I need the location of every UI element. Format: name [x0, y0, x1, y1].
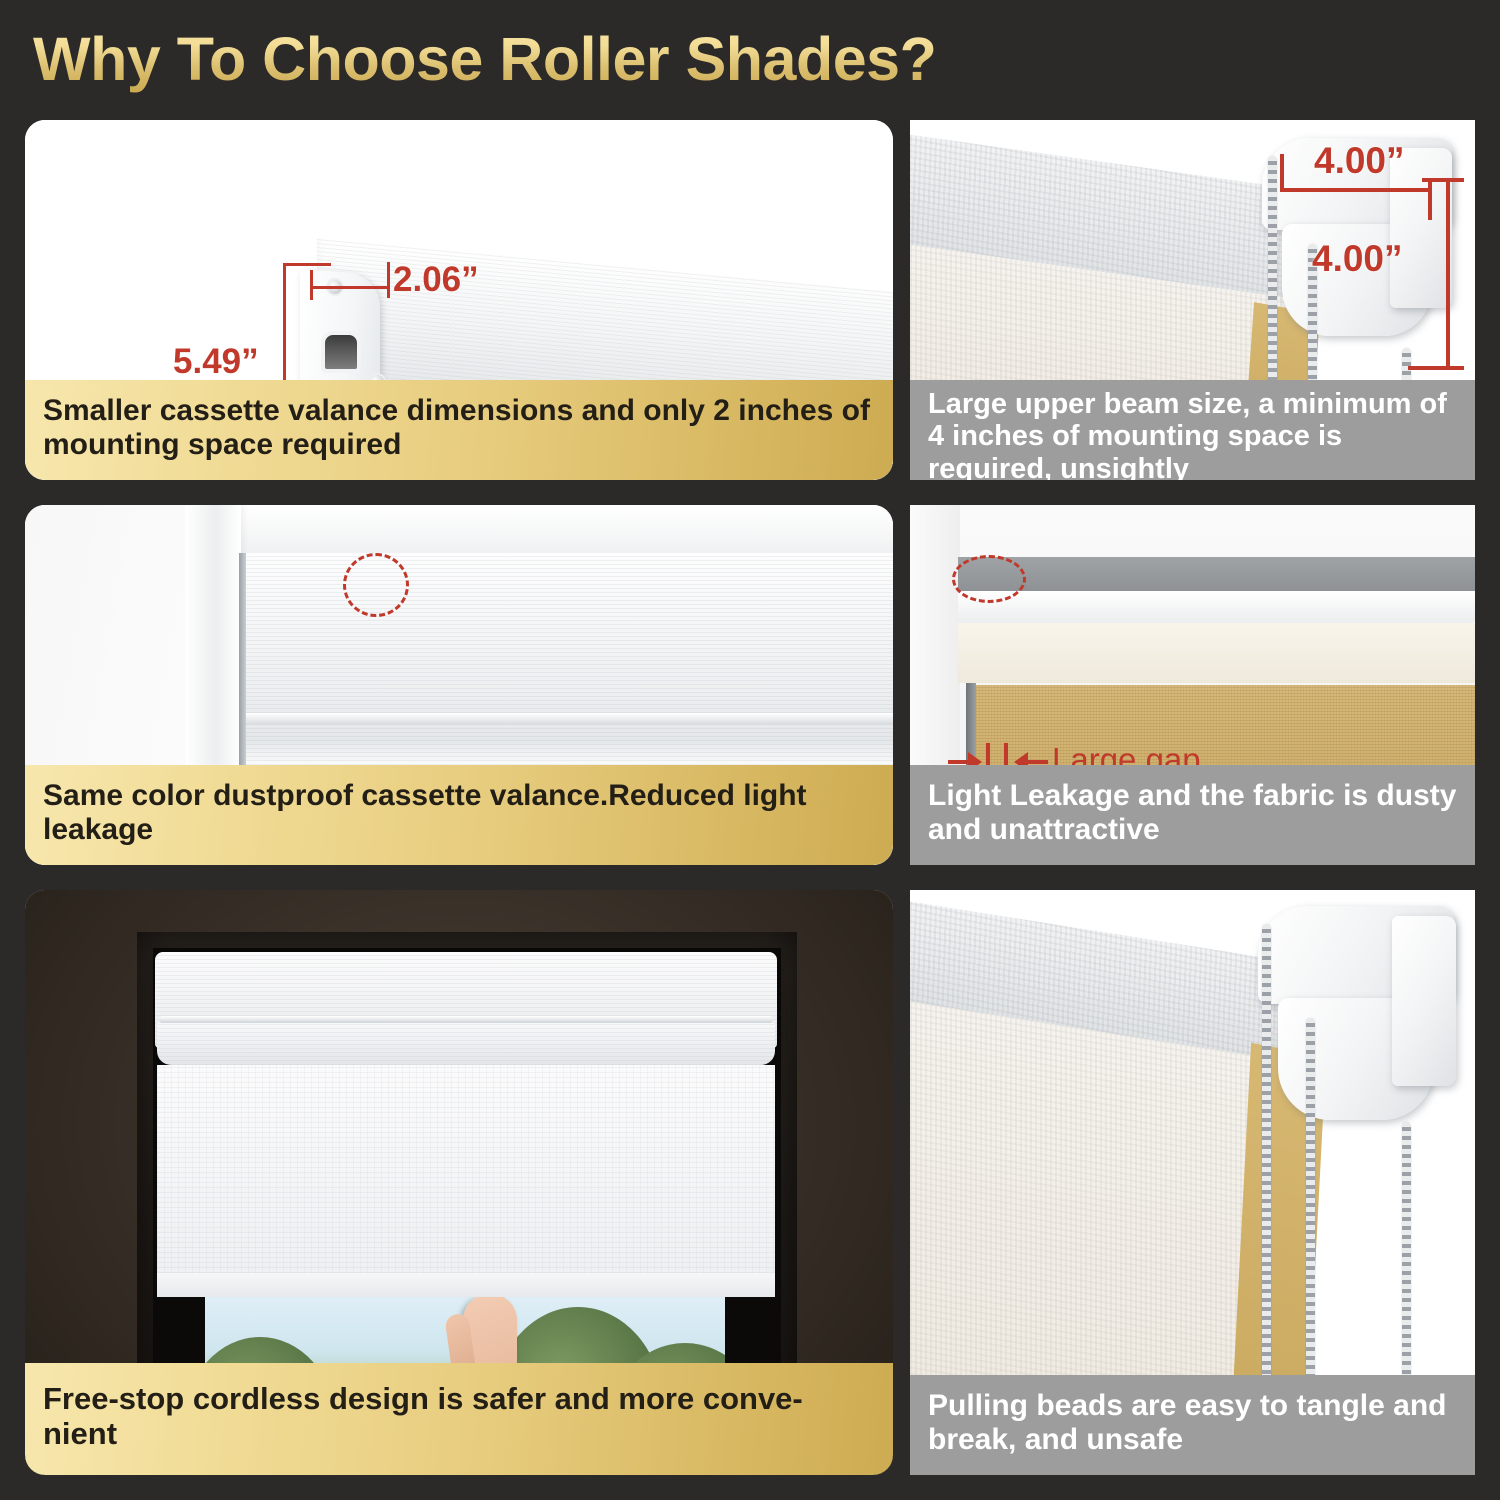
panel-cassette-valance: 2.06” 5.49” Smaller cassette valance dim… — [25, 120, 893, 480]
upper-beam-dark — [958, 557, 1475, 591]
page-title: Why To Choose Roller Shades? — [33, 24, 936, 94]
caption-bar-dustproof-cassette: Same color dustproof cassette valance.Re… — [25, 765, 893, 865]
valance-seam-line — [159, 1016, 773, 1023]
caption-text: Smaller cassette valance dimensions and … — [43, 394, 875, 461]
beam-height-dim-line — [1446, 178, 1450, 370]
caption-text: Free-stop cordless design is safer and m… — [43, 1382, 875, 1451]
caption-bar-pulling-beads: Pulling beads are easy to tangle and bre… — [910, 1375, 1475, 1475]
valance-lip — [157, 1023, 775, 1065]
height-dimension-label: 5.49” — [173, 342, 259, 382]
caption-text: Light Leakage and the fabric is dusty an… — [928, 779, 1457, 846]
panel-large-upper-beam: 4.00” 4.00” Large upper beam size, a min… — [910, 120, 1475, 480]
caption-text: Large upper beam size, a minimum of 4 in… — [928, 388, 1457, 480]
caption-bar-large-upper-beam: Large upper beam size, a minimum of 4 in… — [910, 380, 1475, 480]
shade-fabric — [157, 1065, 775, 1273]
panel-dustproof-cassette: smaller gap Same color dustproof cassett… — [25, 505, 893, 865]
caption-bar-free-stop-cordless: Free-stop cordless design is safer and m… — [25, 1363, 893, 1475]
beam-height-label: 4.00” — [1312, 238, 1403, 280]
caption-text: Same color dustproof cassette valance.Re… — [43, 779, 875, 846]
width-dim-tick-left — [310, 270, 313, 300]
width-dimension-label: 2.06” — [393, 260, 479, 300]
beam-height-tick-bottom — [1408, 366, 1464, 370]
upper-beam-light — [958, 591, 1475, 627]
beam-height-tick-top — [1422, 178, 1464, 182]
height-dim-tick-top — [283, 263, 331, 266]
caption-text: Pulling beads are easy to tangle and bre… — [928, 1389, 1457, 1456]
beam-width-dim-line — [1282, 188, 1430, 192]
beam-width-tick-right — [1428, 178, 1432, 220]
panel-pulling-beads: Pulling beads are easy to tangle and bre… — [910, 890, 1475, 1475]
valance-slot — [325, 335, 357, 369]
beam-width-label: 4.00” — [1314, 140, 1405, 182]
roller-bracket-plate — [1392, 916, 1456, 1086]
shade-bottom-bar — [157, 1273, 775, 1297]
panel-free-stop-cordless: Free-stop cordless design is safer and m… — [25, 890, 893, 1475]
width-dim-tick-right — [387, 262, 390, 298]
highlight-circle-corner — [952, 555, 1026, 603]
window-head-casing — [185, 505, 893, 553]
highlight-circle-top-gap — [343, 553, 409, 617]
shade-mid-rail — [241, 713, 893, 725]
width-dim-line — [310, 286, 390, 289]
caption-bar-light-leakage: Light Leakage and the fabric is dusty an… — [910, 765, 1475, 865]
cream-fabric-band — [958, 623, 1475, 683]
panel-light-leakage: Large gap Light Leakage and the fabric i… — [910, 505, 1475, 865]
infographic-page: Why To Choose Roller Shades? 2.06” — [0, 0, 1500, 1500]
beam-width-tick-left — [1280, 154, 1284, 192]
caption-bar-cassette-valance: Smaller cassette valance dimensions and … — [25, 380, 893, 480]
